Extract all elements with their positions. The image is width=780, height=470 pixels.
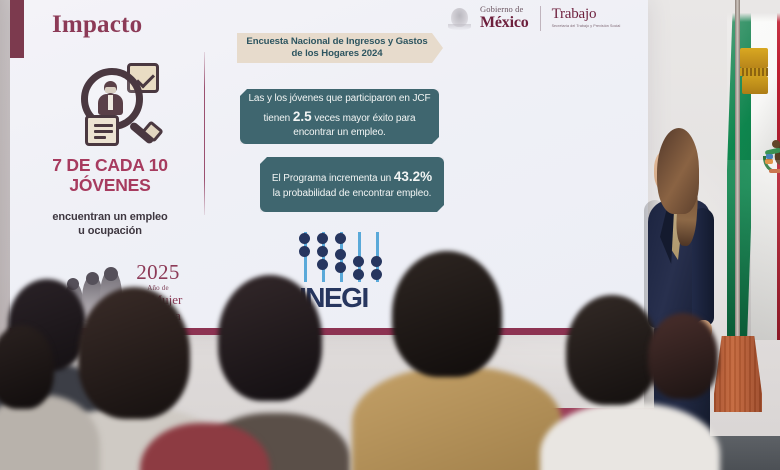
trabajo-label: Trabajo bbox=[552, 7, 621, 22]
page-title: Impacto bbox=[52, 11, 142, 39]
inegi-dot bbox=[335, 233, 346, 244]
document-card-icon bbox=[85, 115, 119, 146]
slide-left-accent-bar bbox=[10, 0, 24, 58]
slide-vertical-divider bbox=[204, 52, 205, 215]
person-mask-icon bbox=[105, 87, 116, 93]
logo-separator bbox=[540, 6, 541, 31]
stat-card-exito-post: veces mayor éxito para encontrar un empl… bbox=[293, 113, 415, 139]
doc-line bbox=[94, 136, 106, 139]
gobierno-de-mexico-wordmark: Gobierno de México bbox=[480, 5, 529, 31]
inegi-dot bbox=[299, 233, 310, 244]
flag-tassel-lower bbox=[742, 76, 768, 94]
headline-subtext-line2: u ocupación bbox=[24, 224, 196, 238]
press-conference-scene: Gobierno de México Trabajo Secretaría de… bbox=[0, 0, 780, 470]
headline-stat-line1: 7 DE CADA 10 bbox=[24, 155, 196, 175]
stat-card-probabilidad-highlight: 43.2% bbox=[394, 169, 432, 184]
government-logos: Gobierno de México Trabajo Secretaría de… bbox=[446, 1, 636, 35]
audience-head bbox=[648, 313, 718, 399]
survey-banner: Encuesta Nacional de Ingresos y Gastos d… bbox=[237, 33, 443, 63]
stat-card-probabilidad-text: El Programa incrementa un 43.2% la proba… bbox=[260, 167, 444, 201]
headline-subtext-line1: encuentran un empleo bbox=[24, 210, 196, 224]
headline-stat: 7 DE CADA 10 JÓVENES bbox=[24, 155, 196, 196]
audience-head bbox=[392, 251, 502, 377]
inegi-dot bbox=[317, 233, 328, 244]
stat-card-probabilidad-post: la probabilidad de encontrar empleo. bbox=[273, 188, 432, 199]
survey-banner-label: Encuesta Nacional de Ingresos y Gastos d… bbox=[237, 36, 443, 61]
audience-shoulder bbox=[352, 367, 562, 470]
gobierno-small-label: Gobierno de bbox=[480, 5, 529, 14]
audience-shoulder bbox=[540, 403, 720, 470]
magnifier-person-check-icon bbox=[73, 60, 169, 152]
trabajo-subtitle: Secretaría del Trabajo y Previsión Socia… bbox=[552, 24, 621, 29]
seated-audience bbox=[0, 255, 780, 470]
doc-line bbox=[94, 124, 113, 127]
flag-tassel-fringe bbox=[740, 68, 768, 76]
speaker-hair bbox=[657, 128, 699, 214]
audience-head bbox=[218, 275, 322, 401]
person-shirt-icon bbox=[108, 95, 113, 110]
audience-head bbox=[78, 287, 190, 419]
doc-line bbox=[94, 130, 113, 133]
audience-head bbox=[566, 295, 658, 405]
stat-card-exito-highlight: 2.5 bbox=[293, 109, 312, 124]
trabajo-wordmark: Trabajo Secretaría del Trabajo y Previsi… bbox=[552, 7, 621, 30]
headline-stat-line2: JÓVENES bbox=[24, 175, 196, 195]
stat-card-probabilidad: El Programa incrementa un 43.2% la proba… bbox=[260, 157, 444, 212]
headline-subtext: encuentran un empleo u ocupación bbox=[24, 210, 196, 239]
stat-card-probabilidad-pre: El Programa incrementa un bbox=[272, 173, 391, 184]
mexican-eagle-seal-icon bbox=[446, 5, 473, 32]
flag-tassel-upper bbox=[740, 48, 768, 68]
stat-card-exito-text: Las y los jóvenes que participaron en JC… bbox=[240, 92, 439, 141]
mexico-label: México bbox=[480, 15, 529, 31]
stat-card-exito: Las y los jóvenes que participaron en JC… bbox=[240, 89, 439, 144]
